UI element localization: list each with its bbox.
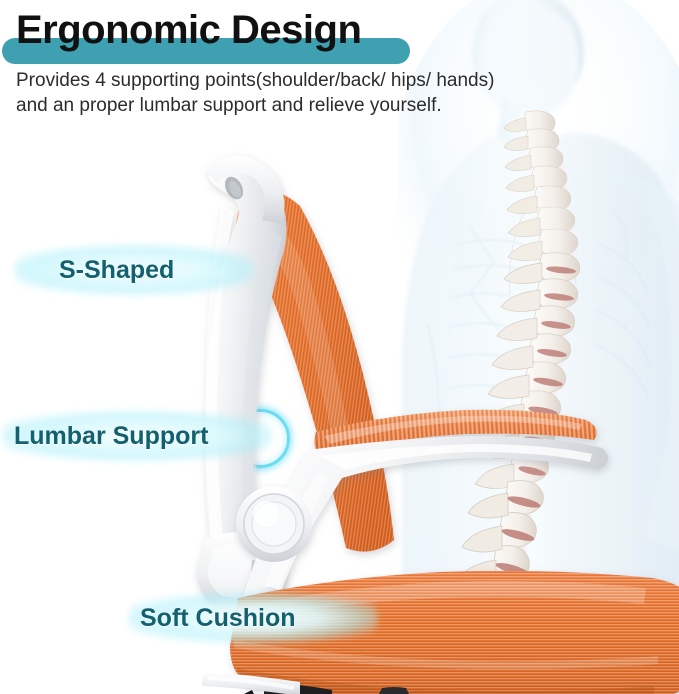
callout-label-lumbar-support: Lumbar Support [14, 422, 208, 451]
callout-lumbar-support: Lumbar Support [2, 408, 272, 464]
seat-plate-bracket [202, 672, 300, 694]
armrest-arm [242, 436, 608, 607]
page-subtitle: Provides 4 supporting points(shoulder/ba… [16, 68, 616, 118]
backrest-top-handle [206, 155, 284, 224]
armrest-pivot-hub [236, 486, 312, 562]
callout-s-shaped: S-Shaped [14, 242, 254, 298]
callout-soft-cushion: Soft Cushion [128, 590, 378, 646]
callout-label-soft-cushion: Soft Cushion [140, 604, 296, 633]
backrest-frame [205, 167, 287, 565]
page-title-wrap: Ergonomic Design [16, 6, 361, 54]
product-feature-image: Ergonomic Design Provides 4 supporting p… [0, 0, 679, 694]
spine-graphic [453, 111, 580, 691]
chair-base [202, 672, 418, 694]
backrest-mesh [236, 189, 394, 552]
page-title: Ergonomic Design [16, 6, 361, 54]
callout-label-s-shaped: S-Shaped [59, 256, 174, 285]
header-block: Ergonomic Design Provides 4 supporting p… [0, 0, 679, 54]
armrest-pad [314, 410, 596, 456]
